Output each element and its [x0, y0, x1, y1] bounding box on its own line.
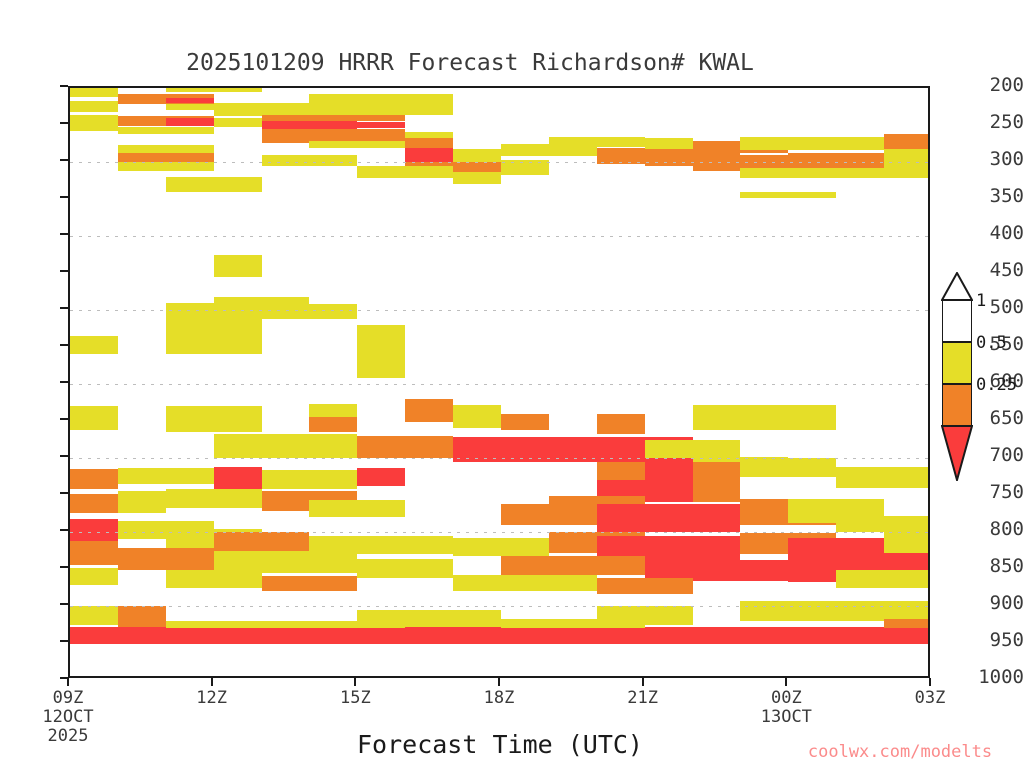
- x-axis-year-label: 2025: [23, 727, 113, 746]
- colorbar-segment-0.5-1: [942, 342, 972, 384]
- x-axis-tick-label: 12Z: [167, 689, 257, 708]
- x-axis-tick-label: 18Z: [454, 689, 544, 708]
- y-axis-tick: [60, 492, 68, 494]
- colorbar-segment-0.25-0.5: [942, 384, 972, 426]
- y-axis-tick-label: 900: [966, 594, 1024, 613]
- y-axis-tick: [60, 159, 68, 161]
- x-axis-date-label: 12OCT: [23, 708, 113, 727]
- x-axis-tick: [785, 678, 787, 686]
- terrain-band: [70, 88, 928, 676]
- colorbar-legend: 10.50.25: [942, 300, 976, 468]
- x-axis-tick-label: 15Z: [310, 689, 400, 708]
- y-axis-tick: [60, 640, 68, 642]
- y-axis-tick: [60, 85, 68, 87]
- y-axis-tick: [60, 233, 68, 235]
- y-axis-tick: [60, 381, 68, 383]
- y-axis-tick-label: 800: [966, 520, 1024, 539]
- y-axis-tick-label: 450: [966, 261, 1024, 280]
- y-axis-tick: [60, 122, 68, 124]
- y-axis-tick: [60, 418, 68, 420]
- y-axis-tick: [60, 344, 68, 346]
- y-axis-tick: [60, 455, 68, 457]
- y-axis-tick: [60, 270, 68, 272]
- x-axis-tick-label: 09Z: [23, 689, 113, 708]
- x-axis-tick-label: 03Z: [885, 689, 975, 708]
- colorbar-label: 0.25: [976, 377, 1017, 394]
- x-axis-tick: [642, 678, 644, 686]
- screenshot-root: 2025101209 HRRR Forecast Richardson# KWA…: [0, 0, 1024, 768]
- y-axis-tick-label: 400: [966, 224, 1024, 243]
- y-axis-tick-label: 850: [966, 557, 1024, 576]
- colorbar-segment-above-1: [942, 300, 972, 342]
- y-axis-tick-label: 750: [966, 483, 1024, 502]
- x-axis-tick: [354, 678, 356, 686]
- footer-credit: coolwx.com/modelts: [780, 742, 1020, 762]
- colorbar-bottom-arrow: [941, 425, 973, 485]
- y-axis-tick: [60, 603, 68, 605]
- x-axis-tick: [67, 678, 69, 686]
- y-axis-tick-label: 300: [966, 150, 1024, 169]
- colorbar-top-arrow-outline: [941, 272, 973, 305]
- x-axis-tick: [211, 678, 213, 686]
- x-axis-tick-label: 00Z: [741, 689, 831, 708]
- x-axis-tick: [929, 678, 931, 686]
- chart-title: 2025101209 HRRR Forecast Richardson# KWA…: [0, 50, 940, 76]
- colorbar-label: 1: [976, 293, 986, 310]
- y-axis-tick-label: 350: [966, 187, 1024, 206]
- y-axis-tick-label: 1000: [966, 668, 1024, 687]
- y-axis-tick: [60, 307, 68, 309]
- colorbar-label: 0.5: [976, 335, 1007, 352]
- x-axis-date-label: 13OCT: [741, 708, 831, 727]
- y-axis-tick-label: 950: [966, 631, 1024, 650]
- x-axis-tick-label: 21Z: [598, 689, 688, 708]
- y-axis-tick-label: 200: [966, 76, 1024, 95]
- plot-area: [68, 86, 930, 678]
- y-axis-tick: [60, 566, 68, 568]
- y-axis-tick: [60, 196, 68, 198]
- y-axis-tick-label: 250: [966, 113, 1024, 132]
- y-axis-tick: [60, 529, 68, 531]
- x-axis-tick: [498, 678, 500, 686]
- x-axis-title: Forecast Time (UTC): [150, 730, 850, 759]
